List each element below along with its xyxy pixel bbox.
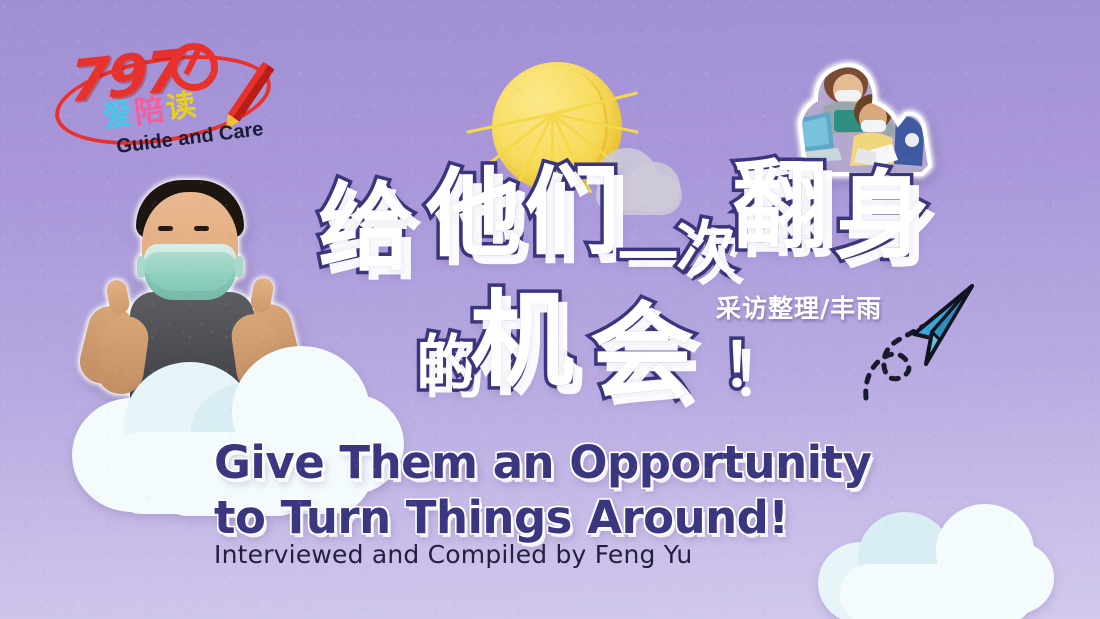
- english-title: Give Them an Opportunity to Turn Things …: [214, 436, 914, 546]
- english-title-line-1: Give Them an Opportunity: [214, 436, 914, 491]
- cn-char-hui: 会: [590, 300, 694, 404]
- cn-char-yi: 一: [618, 228, 678, 288]
- cn-char-de: 的: [416, 334, 476, 394]
- brand-logo[interactable]: 797 爱陪读 Guide and Care: [52, 24, 282, 154]
- cn-char-gei: 给: [318, 180, 414, 276]
- cn-char-men: 们: [524, 164, 620, 260]
- poster-canvas: 797 爱陪读 Guide and Care 给 他 们 一 次 翻 身 的 机…: [0, 0, 1100, 619]
- cn-char-ci: 次: [676, 220, 736, 280]
- boy-face-mask: [144, 244, 236, 300]
- english-title-line-2: to Turn Things Around!: [214, 491, 914, 546]
- cn-char-ji: 机: [470, 288, 574, 392]
- cn-char-exclaim: ！: [722, 336, 782, 396]
- english-credit: Interviewed and Compiled by Feng Yu: [214, 540, 692, 569]
- chinese-title: 给 他 们 一 次 翻 身 的 机 会 ！: [318, 158, 938, 418]
- cn-char-shen: 身: [834, 168, 930, 264]
- cn-char-fan: 翻: [732, 158, 828, 254]
- logo-char-1: 爱: [101, 97, 137, 134]
- cn-char-ta: 他: [426, 166, 522, 262]
- chinese-byline: 采访整理/丰雨: [716, 289, 882, 325]
- logo-char-3: 读: [164, 88, 200, 125]
- logo-char-2: 陪: [132, 93, 168, 130]
